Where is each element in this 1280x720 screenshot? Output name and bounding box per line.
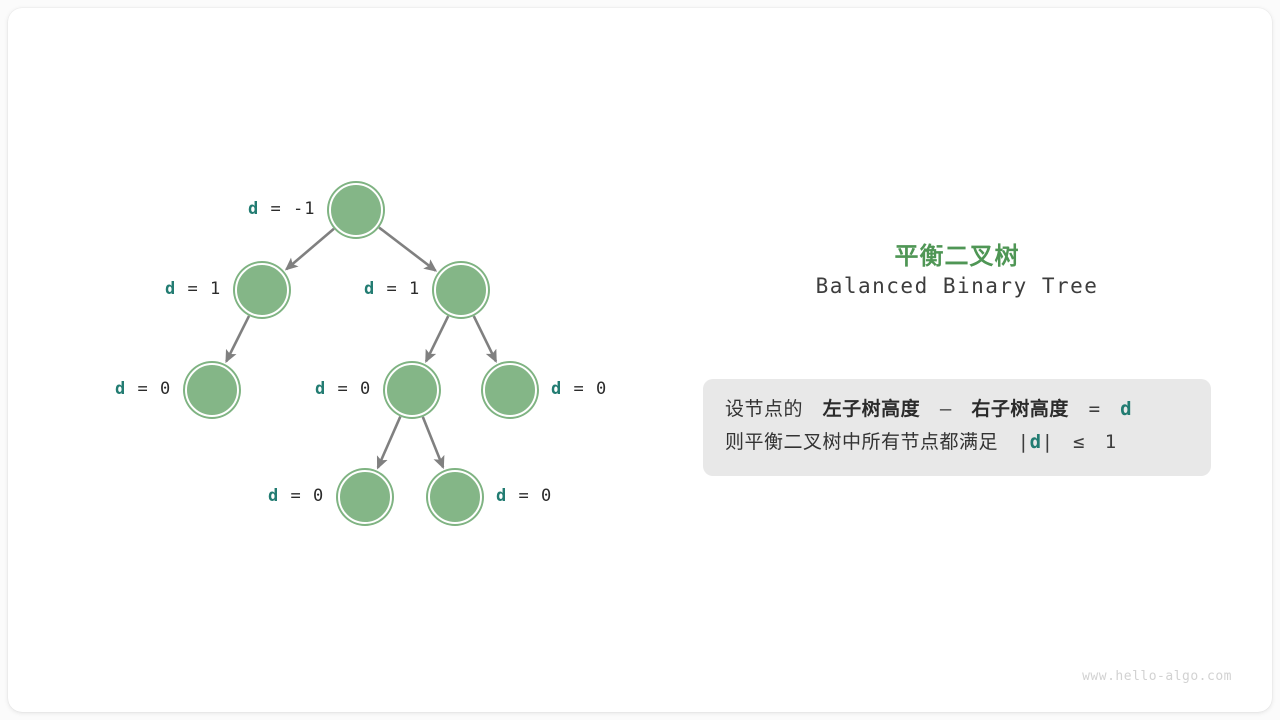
panel-title-zh: 平衡二叉树 [668, 236, 1246, 271]
balance-factor-variable: d [551, 379, 562, 399]
balance-factor-variable: d [496, 486, 507, 506]
node-balance-factor-label: d = 0 [268, 486, 324, 506]
balance-factor-variable: d [268, 486, 279, 506]
tree-node[interactable] [434, 263, 488, 317]
node-balance-factor-label: d = 0 [115, 379, 171, 399]
tree-node[interactable] [483, 363, 537, 417]
node-balance-factor-label: d = -1 [248, 199, 315, 219]
tree-node[interactable] [329, 183, 383, 237]
node-balance-factor-label: d = 0 [551, 379, 607, 399]
balance-factor-value: = 1 [375, 279, 420, 299]
definition-prefix: 设节点的 [725, 398, 803, 420]
balance-factor-value: = 0 [126, 379, 171, 399]
info-panel: 平衡二叉树 Balanced Binary Tree 设节点的 左子树高度 – … [668, 8, 1272, 712]
node-balance-factor-label: d = 0 [315, 379, 371, 399]
diagram-canvas: d = -1d = 1d = 1d = 0d = 0d = 0d = 0d = … [0, 0, 1280, 720]
definition-right-height-term: 右子树高度 [971, 398, 1069, 420]
tree-edge [426, 316, 448, 361]
definition-variable-d: d [1120, 398, 1132, 420]
balance-factor-variable: d [315, 379, 326, 399]
definition-minus-sign: – [940, 398, 952, 420]
panel-title-en: Balanced Binary Tree [668, 274, 1246, 298]
tree-edge [474, 316, 496, 361]
tree-node[interactable] [428, 470, 482, 524]
balance-factor-variable: d [248, 199, 259, 219]
definition-left-height-term: 左子树高度 [823, 398, 921, 420]
tree-node[interactable] [385, 363, 439, 417]
balance-factor-value: = -1 [259, 199, 315, 219]
definition-box: 设节点的 左子树高度 – 右子树高度 = d 则平衡二叉树中所有节点都满足 |d [703, 379, 1211, 476]
balance-factor-value: = 0 [279, 486, 324, 506]
definition-line-1: 设节点的 左子树高度 – 右子树高度 = d [725, 393, 1189, 426]
definition-bound-value: 1 [1105, 431, 1117, 453]
watermark: www.hello-algo.com [1082, 669, 1232, 684]
tree-node[interactable] [185, 363, 239, 417]
balance-factor-variable: d [115, 379, 126, 399]
definition-equals-sign: = [1089, 398, 1101, 420]
abs-bar-close: | [1042, 431, 1054, 453]
node-balance-factor-label: d = 1 [165, 279, 221, 299]
tree-edges [8, 8, 668, 712]
binary-tree-figure: d = -1d = 1d = 1d = 0d = 0d = 0d = 0d = … [8, 8, 668, 712]
tree-edge [378, 417, 400, 468]
definition-variable-d-abs: d [1030, 431, 1042, 453]
tree-node[interactable] [235, 263, 289, 317]
abs-bar-open: | [1018, 431, 1030, 453]
node-balance-factor-label: d = 0 [496, 486, 552, 506]
tree-edge [226, 316, 249, 361]
tree-edge [379, 228, 435, 271]
definition-line-2: 则平衡二叉树中所有节点都满足 |d| ≤ 1 [725, 426, 1189, 459]
balance-factor-value: = 0 [562, 379, 607, 399]
balance-factor-value: = 0 [507, 486, 552, 506]
tree-edge [423, 417, 443, 467]
diagram-card: d = -1d = 1d = 1d = 0d = 0d = 0d = 0d = … [8, 8, 1272, 712]
definition-condition-prefix: 则平衡二叉树中所有节点都满足 [725, 431, 998, 453]
balance-factor-value: = 1 [176, 279, 221, 299]
balance-factor-value: = 0 [326, 379, 371, 399]
balance-factor-variable: d [364, 279, 375, 299]
tree-node[interactable] [338, 470, 392, 524]
node-balance-factor-label: d = 1 [364, 279, 420, 299]
less-equal-sign: ≤ [1073, 431, 1085, 453]
balance-factor-variable: d [165, 279, 176, 299]
tree-edge [286, 229, 334, 269]
